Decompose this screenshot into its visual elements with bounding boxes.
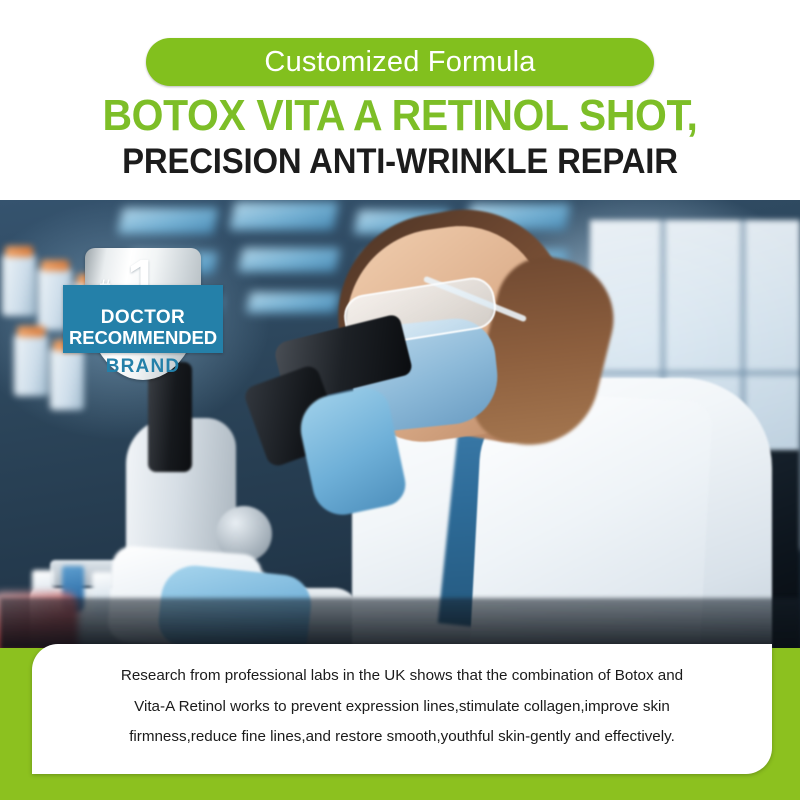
callout-line: Research from professional labs in the U… — [121, 661, 683, 691]
page-title: BOTOX VITA A RETINOL SHOT, — [28, 93, 772, 139]
page-subtitle: PRECISION ANTI-WRINKLE REPAIR — [24, 144, 776, 181]
badge-ribbon: DOCTOR RECOMMENDED — [63, 285, 223, 353]
lab-bench — [0, 598, 800, 650]
callout-line: Vita-A Retinol works to prevent expressi… — [134, 692, 670, 722]
badge-line-doctor: DOCTOR — [101, 308, 185, 329]
customized-formula-pill: Customized Formula — [146, 38, 654, 86]
doctor-recommended-badge: 1 # DOCTOR RECOMMENDED BRAND — [63, 248, 223, 384]
badge-line-brand: BRAND — [63, 356, 223, 378]
scientist-figure — [300, 210, 800, 650]
pill-label: Customized Formula — [264, 48, 535, 77]
product-banner: Customized Formula BOTOX VITA A RETINOL … — [0, 0, 800, 800]
callout-line: firmness,reduce fine lines,and restore s… — [129, 722, 675, 752]
header-section: Customized Formula BOTOX VITA A RETINOL … — [0, 0, 800, 200]
research-callout-card: Research from professional labs in the U… — [32, 644, 772, 774]
badge-line-recommended: RECOMMENDED — [69, 328, 217, 348]
